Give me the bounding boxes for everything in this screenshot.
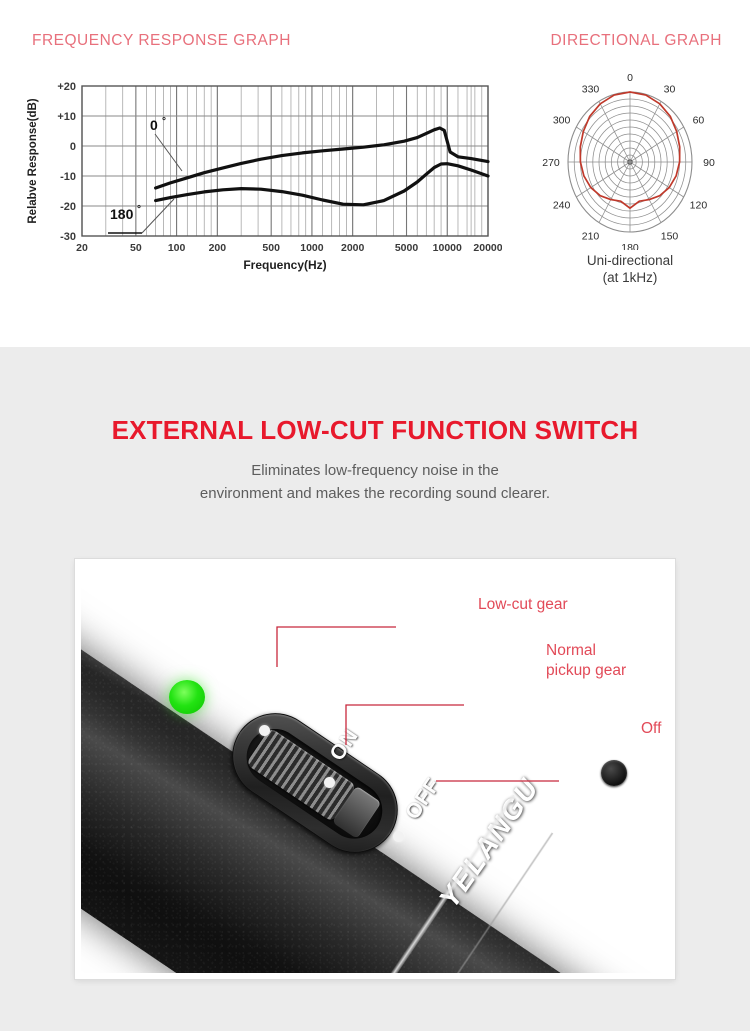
svg-text:240: 240: [553, 200, 571, 212]
low-cut-title: EXTERNAL LOW-CUT FUNCTION SWITCH: [0, 415, 750, 446]
svg-text:100: 100: [168, 242, 186, 254]
svg-text:+20: +20: [57, 81, 76, 93]
low-cut-subtitle-line2: environment and makes the recording soun…: [0, 482, 750, 505]
svg-text:330: 330: [582, 83, 600, 95]
callout-normal-pickup-gear: Normal pickup gear: [546, 641, 626, 681]
svg-text:60: 60: [693, 115, 705, 127]
svg-text:270: 270: [542, 157, 560, 169]
callout-low-cut-gear-label: Low-cut gear: [478, 595, 568, 615]
polar-caption-line2: (at 1kHz): [524, 269, 736, 286]
svg-text:2000: 2000: [341, 242, 365, 254]
directional-polar-svg: 0306090120150180210240270300330: [524, 70, 736, 250]
callout-low-cut-gear: Low-cut gear: [478, 595, 568, 615]
graphs-section: FREQUENCY RESPONSE GRAPH DIRECTIONAL GRA…: [0, 0, 750, 347]
svg-text:-10: -10: [60, 171, 76, 183]
svg-text:5000: 5000: [395, 242, 419, 254]
directional-graph-heading: DIRECTIONAL GRAPH: [550, 32, 722, 50]
svg-text:300: 300: [553, 115, 571, 127]
svg-text:10000: 10000: [433, 242, 462, 254]
svg-text:200: 200: [209, 242, 227, 254]
low-cut-subtitle: Eliminates low-frequency noise in the en…: [0, 459, 750, 506]
svg-text:180: 180: [621, 242, 639, 250]
frequency-response-svg: -30-20-100+10+20205010020050010002000500…: [22, 78, 502, 293]
svg-text:-30: -30: [60, 231, 76, 243]
svg-text:°: °: [162, 116, 166, 127]
svg-text:Frequency(Hz): Frequency(Hz): [243, 258, 326, 272]
svg-text:150: 150: [661, 231, 679, 243]
product-photo-card: ON OFF YELANGU: [75, 559, 675, 979]
callout-normal-pickup-gear-line1: Normal: [546, 641, 626, 661]
callout-off-label: Off: [641, 719, 661, 739]
svg-text:120: 120: [690, 200, 708, 212]
svg-text:20000: 20000: [473, 242, 502, 254]
polar-caption-line1: Uni-directional: [524, 252, 736, 269]
frequency-response-heading: FREQUENCY RESPONSE GRAPH: [32, 32, 291, 50]
callout-off: Off: [641, 719, 661, 739]
svg-text:20: 20: [76, 242, 88, 254]
low-cut-subtitle-line1: Eliminates low-frequency noise in the: [0, 459, 750, 482]
svg-text:30: 30: [664, 83, 676, 95]
svg-text:1000: 1000: [300, 242, 324, 254]
svg-text:0: 0: [150, 117, 158, 133]
frequency-response-chart: -30-20-100+10+20205010020050010002000500…: [22, 78, 502, 293]
product-photo: ON OFF YELANGU: [81, 565, 669, 973]
callout-normal-pickup-gear-line2: pickup gear: [546, 661, 626, 681]
svg-text:0: 0: [627, 72, 633, 84]
svg-text:-20: -20: [60, 201, 76, 213]
svg-text:210: 210: [582, 231, 600, 243]
svg-text:180: 180: [110, 206, 134, 222]
svg-text:500: 500: [262, 242, 280, 254]
callout-leader-lines: [81, 565, 669, 973]
svg-text:50: 50: [130, 242, 142, 254]
svg-text:+10: +10: [57, 111, 76, 123]
svg-text:90: 90: [703, 157, 715, 169]
svg-text:Relabve Response(dB): Relabve Response(dB): [27, 98, 39, 223]
directional-polar-chart: 0306090120150180210240270300330 Uni-dire…: [524, 70, 736, 285]
svg-text:0: 0: [70, 141, 76, 153]
svg-text:°: °: [137, 204, 141, 215]
polar-caption: Uni-directional (at 1kHz): [524, 252, 736, 287]
low-cut-section: EXTERNAL LOW-CUT FUNCTION SWITCH Elimina…: [0, 347, 750, 1031]
